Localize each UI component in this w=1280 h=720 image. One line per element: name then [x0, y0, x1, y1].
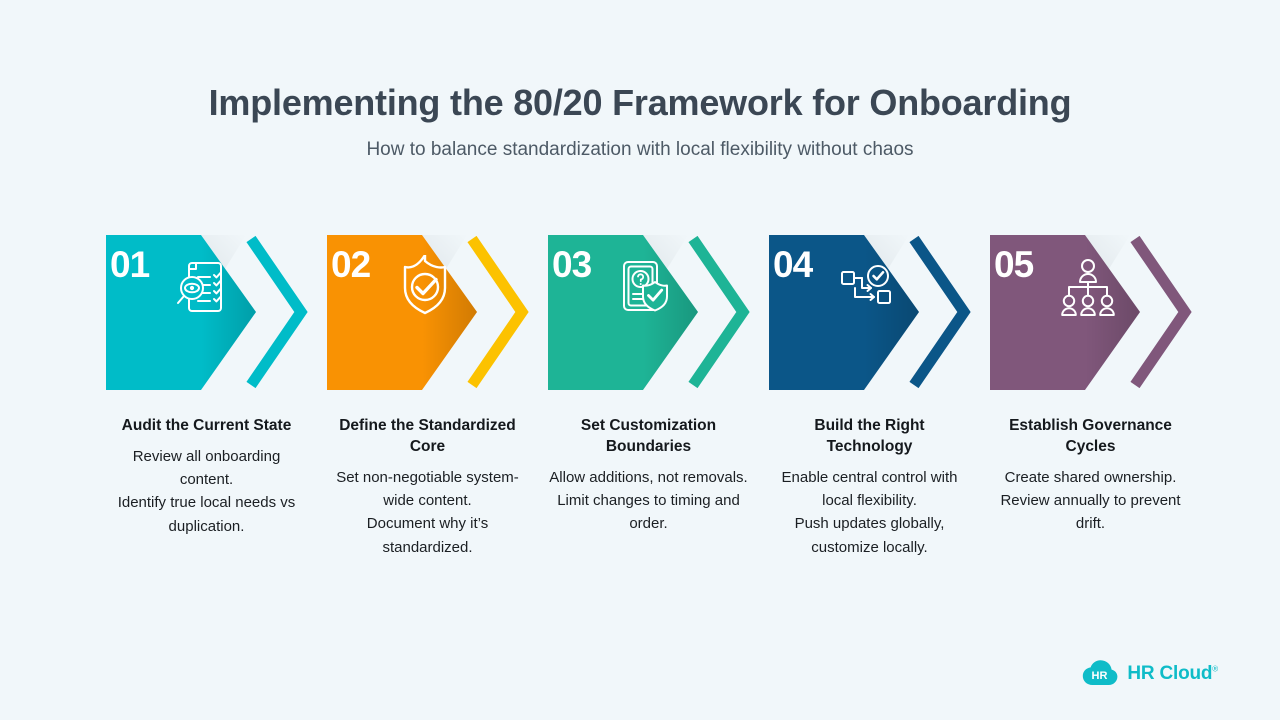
step-number-1: 01: [110, 246, 149, 283]
logo-trademark: ®: [1212, 664, 1218, 673]
step-card-4[interactable]: 04 Build the Right Technology Enable cen…: [759, 205, 980, 559]
step-title-1: Audit the Current State: [107, 416, 307, 437]
step-body-3: Allow additions, not removals. Limit cha…: [549, 466, 749, 536]
logo-wordmark: HR Cloud®: [1127, 664, 1218, 683]
step-title-3: Set Customization Boundaries: [549, 416, 749, 458]
step-card-1[interactable]: 01 Audit the Current State: [96, 205, 317, 559]
step-number-3: 03: [552, 246, 591, 283]
arrow-chevron-2: [472, 239, 522, 385]
hr-cloud-logo[interactable]: HR HR Cloud®: [1082, 659, 1218, 687]
step-title-4: Build the Right Technology: [770, 416, 970, 458]
logo-name: HR Cloud: [1127, 663, 1212, 684]
shield-check-icon: [395, 255, 455, 317]
audit-checklist-magnifier-icon: [174, 255, 234, 317]
page-title: Implementing the 80/20 Framework for Onb…: [0, 82, 1280, 123]
step-number-5: 05: [994, 246, 1033, 283]
step-arrow-1: 01: [96, 205, 317, 390]
step-caption-5: Establish Governance Cycles Create share…: [991, 416, 1191, 536]
page-subtitle: How to balance standardization with loca…: [0, 139, 1280, 162]
step-body-1: Review all onboarding content. Identify …: [107, 445, 307, 538]
step-card-3[interactable]: 03 Set Customization Boundaries Allow ad…: [538, 205, 759, 559]
header: Implementing the 80/20 Framework for Onb…: [0, 0, 1280, 162]
step-body-4: Enable central control with local flexib…: [770, 466, 970, 559]
infographic-page: { "header": { "title": "Implementing the…: [0, 0, 1280, 720]
arrow-chevron-4: [914, 239, 964, 385]
org-chart-people-icon: [1058, 255, 1118, 317]
step-card-5[interactable]: 05 Establish Governance Cycles Create sh…: [980, 205, 1201, 559]
step-caption-2: Define the Standardized Core Set non-neg…: [328, 416, 528, 559]
step-arrow-3: 03: [538, 205, 759, 390]
cloud-icon: HR: [1082, 659, 1118, 687]
cloud-icon-label: HR: [1092, 670, 1108, 682]
step-arrow-2: 02: [317, 205, 538, 390]
step-caption-4: Build the Right Technology Enable centra…: [770, 416, 970, 559]
document-question-shield-icon: [616, 255, 676, 317]
step-caption-3: Set Customization Boundaries Allow addit…: [549, 416, 749, 536]
step-card-2[interactable]: 02 Define the Standardized Core Set non-…: [317, 205, 538, 559]
workflow-approval-icon: [837, 255, 897, 317]
step-arrow-5: 05: [980, 205, 1201, 390]
step-number-2: 02: [331, 246, 370, 283]
step-title-2: Define the Standardized Core: [328, 416, 528, 458]
steps-row: 01 Audit the Current State: [0, 205, 1280, 559]
arrow-chevron-5: [1135, 239, 1185, 385]
step-arrow-4: 04: [759, 205, 980, 390]
arrow-chevron-1: [251, 239, 301, 385]
step-number-4: 04: [773, 246, 812, 283]
step-body-5: Create shared ownership. Review annually…: [991, 466, 1191, 536]
step-caption-1: Audit the Current State Review all onboa…: [107, 416, 307, 538]
step-body-2: Set non-negotiable system-wide content. …: [328, 466, 528, 559]
arrow-chevron-3: [693, 239, 743, 385]
step-title-5: Establish Governance Cycles: [991, 416, 1191, 458]
